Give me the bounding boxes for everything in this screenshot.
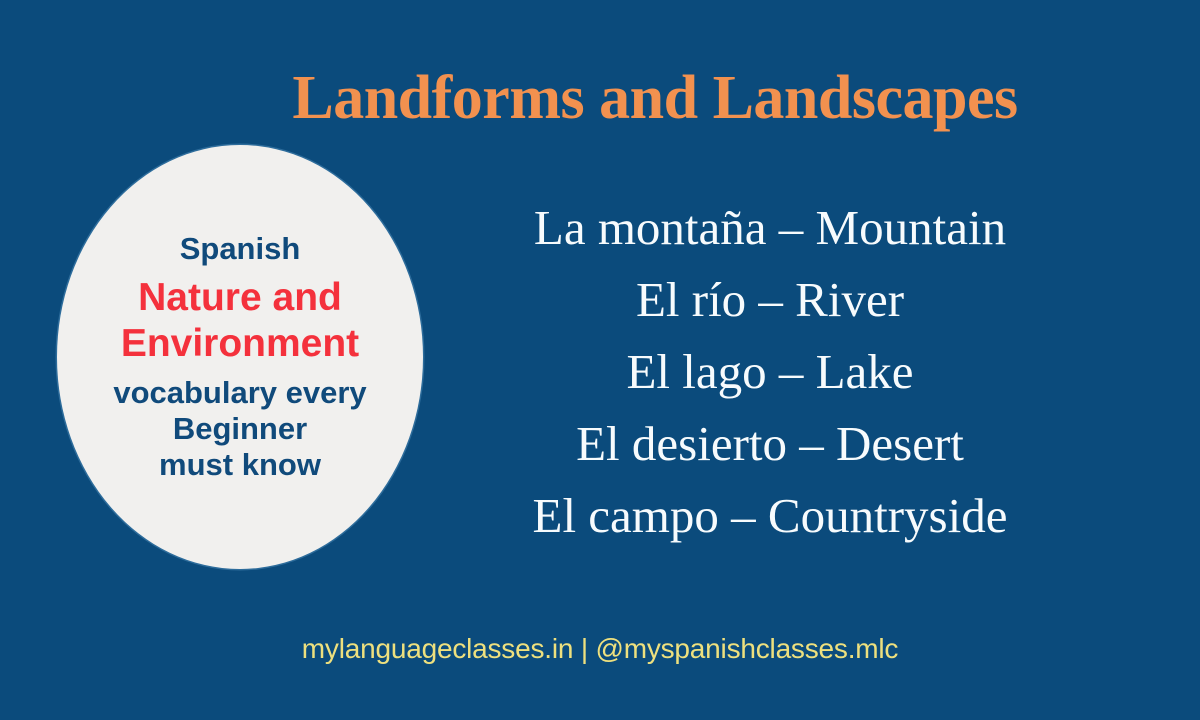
badge-line-topic-2: Environment xyxy=(121,321,359,367)
footer-credit: mylanguageclasses.in | @myspanishclasses… xyxy=(0,633,1200,665)
badge-line-vocabulary-every: vocabulary every xyxy=(113,375,366,411)
page-title: Landforms and Landscapes xyxy=(0,66,1200,131)
vocabulary-item: El río – River xyxy=(430,264,1110,336)
badge-line-language: Spanish xyxy=(180,231,301,267)
vocabulary-item: La montaña – Mountain xyxy=(430,192,1110,264)
vocabulary-poster: Landforms and Landscapes Spanish Nature … xyxy=(0,0,1200,720)
badge-line-topic-1: Nature and xyxy=(138,275,342,321)
vocabulary-list: La montaña – Mountain El río – River El … xyxy=(430,192,1110,552)
badge-line-must-know: must know xyxy=(159,447,321,483)
vocabulary-item: El campo – Countryside xyxy=(430,480,1110,552)
vocabulary-item: El lago – Lake xyxy=(430,336,1110,408)
vocabulary-item: El desierto – Desert xyxy=(430,408,1110,480)
badge-line-beginner: Beginner xyxy=(173,411,307,447)
badge-oval-container: Spanish Nature and Environment vocabular… xyxy=(57,145,423,569)
badge-text-block: Spanish Nature and Environment vocabular… xyxy=(35,145,445,569)
